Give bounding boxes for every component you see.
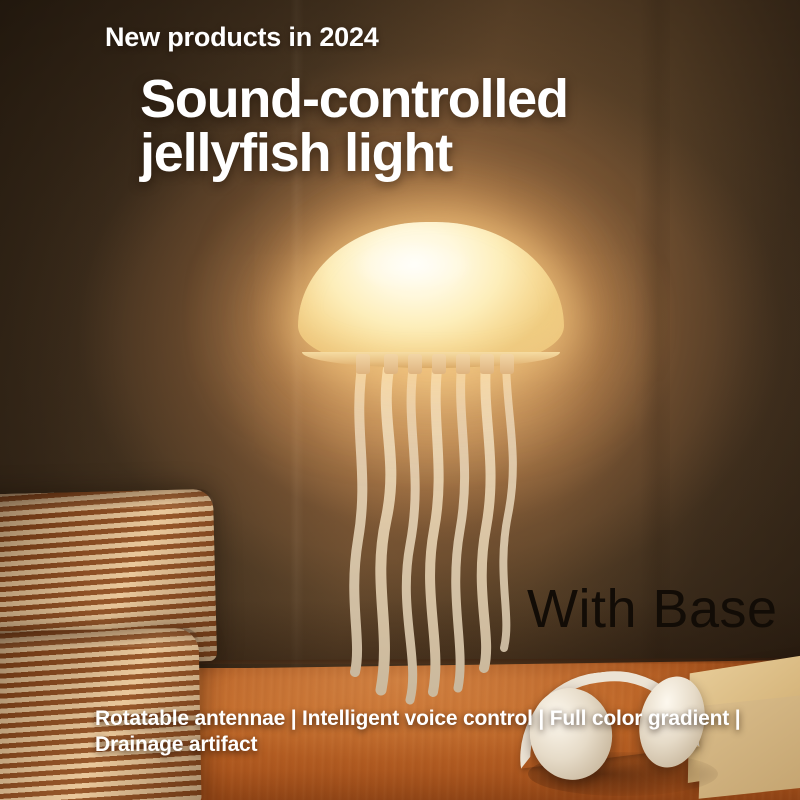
tentacle-stub [500,354,514,374]
tentacle-stub [480,354,494,374]
headline-line-2: jellyfish light [140,126,568,180]
eyebrow-text: New products in 2024 [105,22,379,53]
tentacle-stub [356,354,370,374]
tentacle-stub [456,354,470,374]
tentacle-stub [408,354,422,374]
variant-label: With Base [527,578,778,640]
page-title: Sound-controlled jellyfish light [140,72,568,180]
tentacle-stub [384,354,398,374]
dome-highlight [351,240,473,293]
product-ad-scene: New products in 2024 Sound-controlled je… [0,0,800,800]
feature-list-text: Rotatable antennae | Intelligent voice c… [95,706,755,757]
dome-rim [302,352,560,368]
tentacle-stub [432,354,446,374]
headline-line-1: Sound-controlled [140,72,568,126]
lamp-dome [298,222,564,368]
